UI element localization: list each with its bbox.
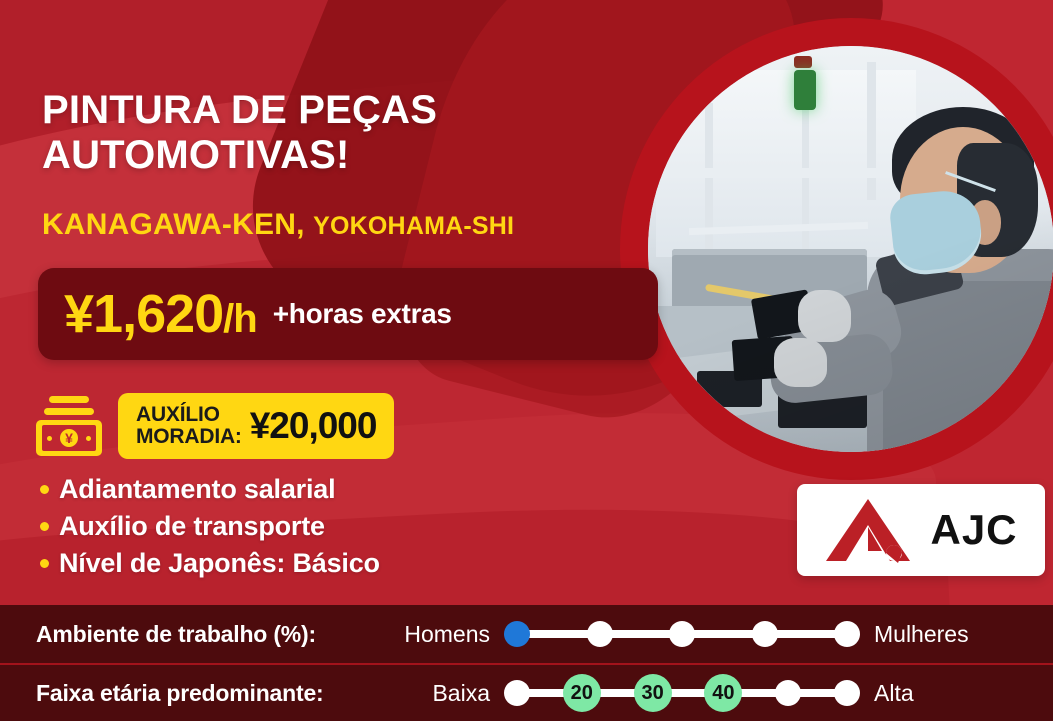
- slider-knob-20[interactable]: 20: [563, 674, 601, 712]
- ajc-triangle-icon: [824, 497, 916, 563]
- work-environment-bar: Ambiente de trabalho (%): Homens Mulhere…: [0, 605, 1053, 663]
- slider-knob[interactable]: [669, 621, 695, 647]
- salary-per-hour: /h: [223, 297, 257, 341]
- housing-allowance: ¥ AUXÍLIO MORADIA: ¥20,000: [36, 392, 394, 460]
- age-range-right-end: Alta: [860, 680, 914, 707]
- slider-knob[interactable]: [752, 621, 778, 647]
- salary-overtime-note: +horas extras: [273, 298, 452, 330]
- housing-label-line-1: AUXÍLIO: [136, 404, 242, 426]
- headline-line-2: AUTOMOTIVAS!: [42, 133, 642, 178]
- bullet-dot-icon: [40, 522, 49, 531]
- location-line: KANAGAWA-KEN, YOKOHAMA-SHI: [42, 208, 662, 242]
- location-city: YOKOHAMA-SHI: [313, 212, 514, 240]
- slider-knob[interactable]: [834, 621, 860, 647]
- salary-amount: ¥1,620/h: [64, 287, 257, 341]
- rating-bars: Ambiente de trabalho (%): Homens Mulhere…: [0, 605, 1053, 721]
- slider-knob[interactable]: [504, 621, 530, 647]
- slider-knob-30[interactable]: 30: [634, 674, 672, 712]
- money-stack-yen-icon: ¥: [36, 396, 102, 456]
- slider-knob[interactable]: [504, 680, 530, 706]
- slider-knob[interactable]: [834, 680, 860, 706]
- list-item: Adiantamento salarial: [40, 474, 560, 505]
- salary-value: ¥1,620: [64, 284, 223, 344]
- slider-knob[interactable]: [587, 621, 613, 647]
- salary-panel: ¥1,620/h +horas extras: [38, 268, 658, 360]
- age-range-bar: Faixa etária predominante: Baixa 20 30 4…: [0, 663, 1053, 721]
- worker-photo: [648, 46, 1053, 452]
- slider-knob[interactable]: [775, 680, 801, 706]
- age-range-slider[interactable]: 20 30 40: [504, 676, 860, 710]
- work-environment-left-end: Homens: [386, 621, 504, 648]
- work-environment-slider[interactable]: [504, 617, 860, 651]
- work-environment-label: Ambiente de trabalho (%):: [36, 621, 386, 648]
- housing-value: ¥20,000: [250, 405, 377, 447]
- housing-label: AUXÍLIO MORADIA:: [136, 404, 242, 448]
- bullet-dot-icon: [40, 485, 49, 494]
- work-environment-right-end: Mulheres: [860, 621, 969, 648]
- benefits-list: Adiantamento salarial Auxílio de transpo…: [40, 474, 560, 585]
- job-ad-banner: PINTURA DE PEÇAS AUTOMOTIVAS! KANAGAWA-K…: [0, 0, 1053, 721]
- list-item: Auxílio de transporte: [40, 511, 560, 542]
- benefit-label: Auxílio de transporte: [59, 511, 325, 542]
- benefit-label: Adiantamento salarial: [59, 474, 335, 505]
- benefit-label: Nível de Japonês: Básico: [59, 548, 380, 579]
- company-logo-text: AJC: [930, 506, 1017, 554]
- housing-label-line-2: MORADIA:: [136, 426, 242, 448]
- list-item: Nível de Japonês: Básico: [40, 548, 560, 579]
- slider-knob-40[interactable]: 40: [704, 674, 742, 712]
- age-range-label: Faixa etária predominante:: [36, 680, 386, 707]
- location-separator: ,: [296, 208, 313, 241]
- housing-allowance-badge: AUXÍLIO MORADIA: ¥20,000: [118, 393, 394, 459]
- company-logo-card: AJC: [797, 484, 1045, 576]
- headline-line-1: PINTURA DE PEÇAS: [42, 88, 642, 133]
- location-prefecture: KANAGAWA-KEN: [42, 208, 296, 241]
- page-title: PINTURA DE PEÇAS AUTOMOTIVAS!: [42, 88, 642, 178]
- bullet-dot-icon: [40, 559, 49, 568]
- age-range-left-end: Baixa: [386, 680, 504, 707]
